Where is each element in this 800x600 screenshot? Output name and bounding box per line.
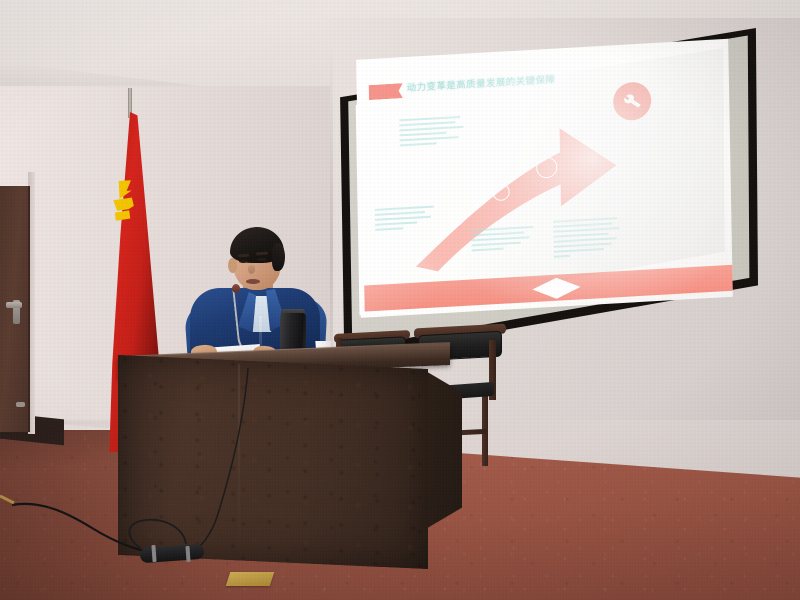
speaker-eye-left: [239, 260, 248, 263]
slide-text-block-upper-left: [399, 116, 464, 150]
podium-wood-grain: [118, 355, 428, 569]
photo-scene: 动力变革是高质量发展的关键保障: [0, 0, 800, 600]
slide-body: 动力变革是高质量发展的关键保障: [356, 39, 733, 318]
door-handle-icon[interactable]: [6, 302, 22, 308]
speaker-hair-side: [272, 243, 285, 271]
floor-socket-plate[interactable]: [226, 572, 275, 586]
slide-text-block-mid-left: [375, 205, 435, 233]
presentation-slide: 动力变革是高质量发展的关键保障: [352, 31, 735, 334]
microphone-head-icon: [232, 284, 240, 293]
podium-panel-seam: [238, 364, 240, 560]
hammer-and-sickle-icon: [107, 176, 147, 232]
slide-title-tab-icon: [369, 83, 403, 100]
wrench-icon: [623, 94, 642, 110]
podium-side-panel: [424, 370, 462, 530]
slide-text-block-lower-right: [553, 217, 620, 261]
speaker-nose: [248, 265, 255, 274]
speaker-mouth: [246, 279, 260, 284]
slide-title: 动力变革是高质量发展的关键保障: [407, 72, 556, 94]
slide-text-block-lower-center: [471, 226, 533, 254]
speaker-eye-right: [257, 258, 267, 261]
door-stop: [16, 402, 25, 407]
speaker-ear: [228, 258, 237, 273]
